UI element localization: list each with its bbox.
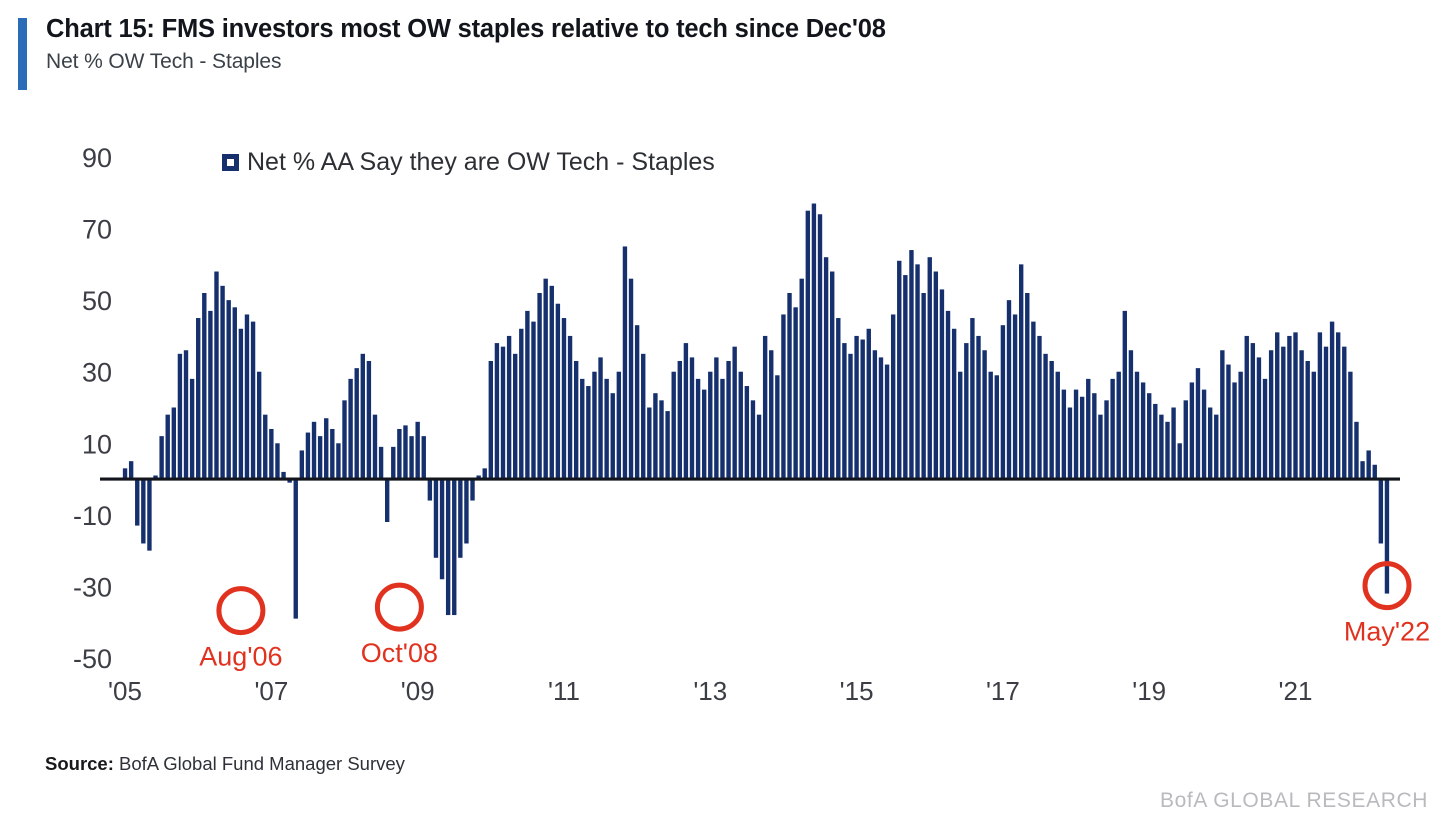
bar (842, 343, 846, 479)
bar (989, 372, 993, 479)
page-subtitle: Net % OW Tech - Staples (46, 50, 1418, 74)
bar (1123, 311, 1127, 479)
bar (647, 408, 651, 480)
bar (1147, 393, 1151, 479)
chart-page: Chart 15: FMS investors most OW staples … (0, 0, 1440, 834)
chart-plot-area: 9070503010-10-30-50 '05'07'09'11'13'15'1… (0, 120, 1440, 720)
bar (1196, 368, 1200, 479)
bar (800, 279, 804, 479)
bar (665, 411, 669, 479)
y-tick-label: 50 (82, 286, 112, 316)
bar (269, 429, 273, 479)
bar (361, 354, 365, 479)
bar (1287, 336, 1291, 479)
bar (830, 272, 834, 480)
y-tick-label: 90 (82, 143, 112, 173)
bar (995, 375, 999, 479)
x-tick-label: '17 (986, 676, 1020, 706)
bar (446, 479, 450, 615)
bar (1080, 397, 1084, 479)
bar (355, 368, 359, 479)
bar (1025, 293, 1029, 479)
bar (568, 336, 572, 479)
bar-chart: 9070503010-10-30-50 '05'07'09'11'13'15'1… (0, 120, 1440, 720)
chart-header: Chart 15: FMS investors most OW staples … (18, 14, 1418, 74)
chart-legend: Net % AA Say they are OW Tech - Staples (222, 148, 715, 176)
bar (458, 479, 462, 558)
bar (1269, 350, 1273, 479)
bar (1348, 372, 1352, 479)
bar (653, 393, 657, 479)
bar (537, 293, 541, 479)
bar (1171, 408, 1175, 480)
bar (489, 361, 493, 479)
bar (879, 357, 883, 479)
bar (1238, 372, 1242, 479)
bar (1336, 332, 1340, 479)
bar (598, 357, 602, 479)
bar (525, 311, 529, 479)
bar (1226, 365, 1230, 480)
bar (775, 375, 779, 479)
bar (543, 279, 547, 479)
bar (1141, 382, 1145, 479)
bar (1257, 357, 1261, 479)
annotation-circle (219, 589, 263, 633)
bar (1293, 332, 1297, 479)
legend-marker-inner-icon (227, 159, 234, 166)
bar (1074, 390, 1078, 479)
x-tick-label: '09 (401, 676, 435, 706)
y-tick-label: 70 (82, 215, 112, 245)
bar (464, 479, 468, 543)
bar (635, 325, 639, 479)
bar (891, 314, 895, 479)
x-tick-label: '19 (1132, 676, 1166, 706)
bar (1086, 379, 1090, 479)
bar (976, 336, 980, 479)
accent-bar (18, 18, 27, 90)
bar (129, 461, 133, 479)
bar (397, 429, 401, 479)
bar (1184, 400, 1188, 479)
bar (708, 372, 712, 479)
bar (940, 289, 944, 479)
bar (1281, 347, 1285, 479)
bar (848, 354, 852, 479)
bar (818, 214, 822, 479)
bar (726, 361, 730, 479)
bar (1001, 325, 1005, 479)
bar (1251, 343, 1255, 479)
bar (946, 311, 950, 479)
bar (921, 293, 925, 479)
bar (824, 257, 828, 479)
bar (1342, 347, 1346, 479)
bar (934, 272, 938, 480)
bar (385, 479, 389, 522)
bar (836, 318, 840, 479)
bar (690, 357, 694, 479)
bar (1007, 300, 1011, 479)
brand-mark: BofA GLOBAL RESEARCH (1160, 789, 1428, 813)
bar (342, 400, 346, 479)
bar (470, 479, 474, 500)
bar (452, 479, 456, 615)
annotation-label: Aug'06 (199, 642, 282, 672)
bar (159, 436, 163, 479)
bar (751, 400, 755, 479)
bar (184, 350, 188, 479)
bar (501, 347, 505, 479)
bar (1275, 332, 1279, 479)
bar (312, 422, 316, 479)
bar (1031, 322, 1035, 479)
bar (611, 393, 615, 479)
bar (903, 275, 907, 479)
bar (1043, 354, 1047, 479)
bar (550, 286, 554, 479)
bar (1098, 415, 1102, 479)
bar (702, 390, 706, 479)
bar (915, 264, 919, 479)
bar (415, 422, 419, 479)
bar (1214, 415, 1218, 479)
bar (1263, 379, 1267, 479)
bar (745, 386, 749, 479)
bar (873, 350, 877, 479)
bar (1117, 372, 1121, 479)
bar (135, 479, 139, 526)
bar (885, 365, 889, 480)
bar (739, 372, 743, 479)
source-label: Source: (45, 753, 114, 774)
bar (507, 336, 511, 479)
bar (909, 250, 913, 479)
bar (982, 350, 986, 479)
bar (1208, 408, 1212, 480)
bar (373, 415, 377, 479)
bar (172, 408, 176, 480)
bar (403, 425, 407, 479)
bar (672, 372, 676, 479)
bar (952, 329, 956, 479)
bar (787, 293, 791, 479)
bar (1165, 422, 1169, 479)
bar (196, 318, 200, 479)
bar (1153, 404, 1157, 479)
bar (1190, 382, 1194, 479)
bar (714, 357, 718, 479)
bar (318, 436, 322, 479)
bar (897, 261, 901, 479)
bar (970, 318, 974, 479)
bar (1092, 393, 1096, 479)
bar (678, 361, 682, 479)
annotations: Aug'06Oct'08May'22 (199, 564, 1430, 672)
bar (1220, 350, 1224, 479)
annotation-label: Oct'08 (361, 638, 438, 668)
bar (793, 307, 797, 479)
bar (324, 418, 328, 479)
bar (659, 400, 663, 479)
bar (964, 343, 968, 479)
bar (1037, 336, 1041, 479)
bar (556, 304, 560, 479)
annotation-label: May'22 (1344, 617, 1430, 647)
bar (1135, 372, 1139, 479)
y-tick-label: -10 (73, 501, 112, 531)
x-axis: '05'07'09'11'13'15'17'19'21 (108, 676, 1312, 706)
bar (928, 257, 932, 479)
bar (1062, 390, 1066, 479)
bar (1013, 314, 1017, 479)
bar (617, 372, 621, 479)
y-tick-label: 10 (82, 429, 112, 459)
x-tick-label: '13 (693, 676, 727, 706)
bar (422, 436, 426, 479)
bar (306, 433, 310, 480)
bar (806, 211, 810, 479)
bar (226, 300, 230, 479)
bar (812, 204, 816, 480)
bar (684, 343, 688, 479)
bar (1360, 461, 1364, 479)
bar (379, 447, 383, 479)
page-title: Chart 15: FMS investors most OW staples … (46, 14, 1418, 44)
legend-label: Net % AA Say they are OW Tech - Staples (247, 148, 715, 176)
bar (1366, 450, 1370, 479)
bar (233, 307, 237, 479)
bar (440, 479, 444, 579)
bar (1177, 443, 1181, 479)
bar (275, 443, 279, 479)
x-tick-label: '21 (1279, 676, 1313, 706)
y-tick-label: -50 (73, 644, 112, 674)
bar (1306, 361, 1310, 479)
bar (330, 429, 334, 479)
bar (251, 322, 255, 479)
bar (1312, 372, 1316, 479)
bar (1354, 422, 1358, 479)
bar (483, 468, 487, 479)
bar (531, 322, 535, 479)
bar (1385, 479, 1389, 594)
bar (409, 436, 413, 479)
y-axis: 9070503010-10-30-50 (73, 143, 112, 674)
bar (257, 372, 261, 479)
bar (580, 379, 584, 479)
bar (562, 318, 566, 479)
x-tick-label: '11 (548, 676, 580, 706)
bar (434, 479, 438, 558)
source-text: BofA Global Fund Manager Survey (119, 753, 405, 774)
bar (623, 246, 627, 479)
bar (214, 272, 218, 480)
bar (696, 379, 700, 479)
bar (300, 450, 304, 479)
bar (202, 293, 206, 479)
bar (854, 336, 858, 479)
bar (1049, 361, 1053, 479)
bar (336, 443, 340, 479)
x-tick-label: '05 (108, 676, 142, 706)
bar (1019, 264, 1023, 479)
bar (592, 372, 596, 479)
x-tick-label: '07 (254, 676, 288, 706)
bar (732, 347, 736, 479)
bar (348, 379, 352, 479)
bar (860, 340, 864, 480)
bar (1318, 332, 1322, 479)
bar (428, 479, 432, 500)
bar (1379, 479, 1383, 543)
bar (519, 329, 523, 479)
bar (147, 479, 151, 551)
bar-series (123, 204, 1389, 619)
bar (641, 354, 645, 479)
bar (1330, 322, 1334, 479)
bar (574, 361, 578, 479)
bar (1159, 415, 1163, 479)
bar (190, 379, 194, 479)
bar (1245, 336, 1249, 479)
bar (1110, 379, 1114, 479)
bar (1202, 390, 1206, 479)
bar (178, 354, 182, 479)
bar (513, 354, 517, 479)
bar (763, 336, 767, 479)
annotation-circle (377, 585, 421, 629)
bar (769, 350, 773, 479)
x-tick-label: '15 (840, 676, 874, 706)
bar (123, 468, 127, 479)
bar (294, 479, 298, 619)
bar (367, 361, 371, 479)
bar (958, 372, 962, 479)
bar (1299, 350, 1303, 479)
bar (1232, 382, 1236, 479)
bar (1129, 350, 1133, 479)
bar (239, 329, 243, 479)
bar (245, 314, 249, 479)
bar (1056, 372, 1060, 479)
bar (629, 279, 633, 479)
bar (604, 379, 608, 479)
bar (391, 447, 395, 479)
bar (495, 343, 499, 479)
bar (1104, 400, 1108, 479)
bar (1373, 465, 1377, 479)
bar (757, 415, 761, 479)
y-tick-label: 30 (82, 358, 112, 388)
bar (208, 311, 212, 479)
bar (263, 415, 267, 479)
bar (720, 379, 724, 479)
source-note: Source: BofA Global Fund Manager Survey (45, 753, 405, 775)
bar (867, 329, 871, 479)
y-tick-label: -30 (73, 572, 112, 602)
bar (586, 386, 590, 479)
bar (1324, 347, 1328, 479)
bar (166, 415, 170, 479)
bar (141, 479, 145, 543)
bar (1068, 408, 1072, 480)
bar (781, 314, 785, 479)
bar (220, 286, 224, 479)
